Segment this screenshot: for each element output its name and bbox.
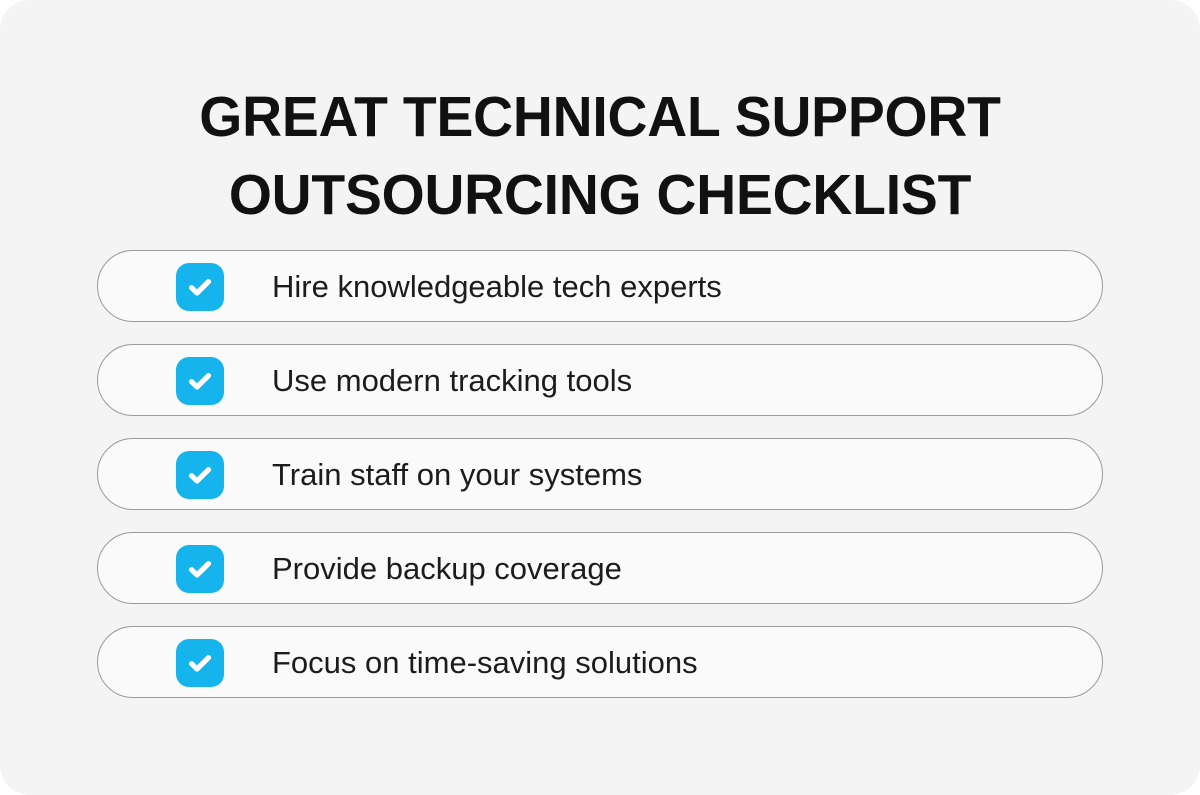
- list-item-label: Train staff on your systems: [272, 439, 642, 511]
- list-item[interactable]: Provide backup coverage: [97, 532, 1103, 604]
- checklist: Hire knowledgeable tech experts Use mode…: [97, 250, 1103, 698]
- list-item-label: Focus on time-saving solutions: [272, 627, 698, 699]
- page-title-line-2: OUTSOURCING CHECKLIST: [18, 156, 1182, 234]
- checkmark-icon: [185, 272, 215, 302]
- page-title: GREAT TECHNICAL SUPPORT OUTSOURCING CHEC…: [18, 78, 1182, 234]
- checkbox-checked[interactable]: [176, 263, 224, 311]
- checkmark-icon: [185, 554, 215, 584]
- list-item-label: Provide backup coverage: [272, 533, 622, 605]
- list-item[interactable]: Use modern tracking tools: [97, 344, 1103, 416]
- checklist-card: GREAT TECHNICAL SUPPORT OUTSOURCING CHEC…: [0, 0, 1200, 795]
- page-title-line-1: GREAT TECHNICAL SUPPORT: [18, 78, 1182, 156]
- checkbox-checked[interactable]: [176, 451, 224, 499]
- list-item[interactable]: Focus on time-saving solutions: [97, 626, 1103, 698]
- checkmark-icon: [185, 648, 215, 678]
- list-item-label: Hire knowledgeable tech experts: [272, 251, 722, 323]
- checkmark-icon: [185, 460, 215, 490]
- list-item[interactable]: Train staff on your systems: [97, 438, 1103, 510]
- checkbox-checked[interactable]: [176, 545, 224, 593]
- list-item[interactable]: Hire knowledgeable tech experts: [97, 250, 1103, 322]
- checkmark-icon: [185, 366, 215, 396]
- checkbox-checked[interactable]: [176, 357, 224, 405]
- list-item-label: Use modern tracking tools: [272, 345, 632, 417]
- checkbox-checked[interactable]: [176, 639, 224, 687]
- checklist-graphic: GREAT TECHNICAL SUPPORT OUTSOURCING CHEC…: [0, 0, 1200, 795]
